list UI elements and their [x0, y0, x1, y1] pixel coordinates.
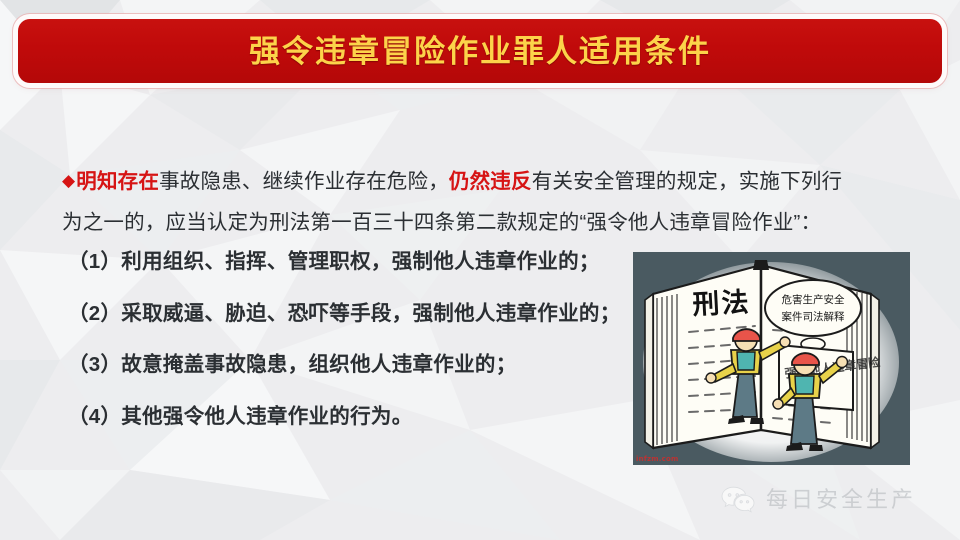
speech-bubble-line-1: 危害生产安全 [782, 293, 845, 306]
wechat-icon [721, 486, 755, 514]
page-title: 强令违章冒险作业罪人适用条件 [249, 36, 711, 67]
list-item: （3）故意掩盖事故隐患，组织他人违章作业的； [68, 355, 648, 376]
paragraph-text-2: 有关安全管理的规定，实施下列行 [532, 170, 843, 193]
slide-title-bar: 强令违章冒险作业罪人适用条件 [18, 19, 942, 83]
wechat-account-watermark: 每日安全生产 [721, 486, 916, 514]
intro-paragraph: ◆明知存在事故隐患、继续作业存在危险，仍然违反有关安全管理的规定，实施下列行 为… [62, 160, 904, 243]
illustration-artwork: 刑法 危害生产安全 案件司法解释 [633, 252, 910, 465]
list-item: （4）其他强令他人违章作业的行为。 [68, 407, 648, 428]
paragraph-highlight-2: 仍然违反 [449, 170, 532, 193]
paragraph-highlight-1: 明知存在 [76, 170, 159, 193]
illustration-credit: infzm.com [636, 455, 679, 463]
paragraph-line-2: 为之一的，应当认定为刑法第一百三十四条第二款规定的“强令他人违章冒险作业”： [62, 202, 904, 243]
conditions-list: （1）利用组织、指挥、管理职权，强制他人违章作业的； （2）采取威逼、胁迫、恐吓… [68, 252, 648, 427]
list-item: （1）利用组织、指挥、管理职权，强制他人违章作业的； [68, 252, 648, 273]
diamond-bullet-icon: ◆ [62, 171, 75, 190]
paragraph-text-1: 事故隐患、继续作业存在危险， [159, 170, 449, 193]
speech-bubble-line-2: 案件司法解释 [782, 310, 845, 323]
criminal-law-illustration: 刑法 危害生产安全 案件司法解释 [633, 252, 910, 465]
book-title: 刑法 [692, 287, 751, 320]
slide-canvas: 强令违章冒险作业罪人适用条件 ◆明知存在事故隐患、继续作业存在危险，仍然违反有关… [0, 0, 960, 540]
wechat-account-name: 每日安全生产 [766, 489, 916, 511]
list-item: （2）采取威逼、胁迫、恐吓等手段，强制他人违章作业的； [68, 304, 648, 325]
